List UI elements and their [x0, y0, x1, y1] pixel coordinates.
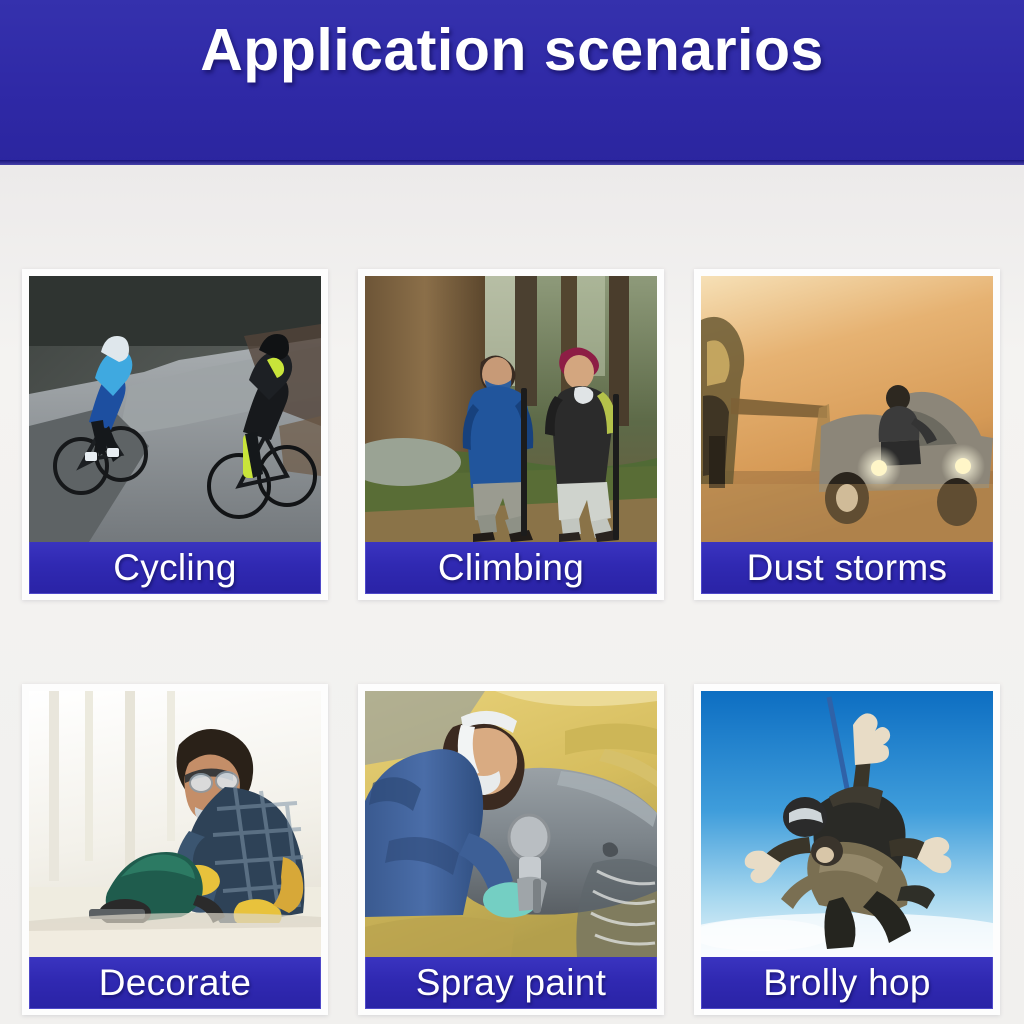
scenario-label-decorate: Decorate — [99, 964, 252, 1001]
scenarios-grid: Cycling — [22, 269, 1002, 1015]
page-header-banner: Application scenarios — [0, 0, 1024, 165]
scenario-label-climbing: Climbing — [438, 549, 584, 586]
dust-storms-photo — [701, 276, 993, 542]
scenario-card-cycling[interactable]: Cycling — [22, 269, 328, 600]
cycling-photo — [29, 276, 321, 542]
scenario-label-spray-paint: Spray paint — [416, 964, 606, 1001]
scenario-card-dust-storms[interactable]: Dust storms — [694, 269, 1000, 600]
spray-paint-photo — [365, 691, 657, 957]
card-label-bar: Cycling — [29, 542, 321, 594]
page-title: Application scenarios — [200, 16, 824, 84]
card-label-bar: Decorate — [29, 957, 321, 1009]
scenario-label-brolly-hop: Brolly hop — [763, 964, 931, 1001]
scenario-card-climbing[interactable]: Climbing — [358, 269, 664, 600]
scenario-label-cycling: Cycling — [113, 549, 236, 586]
card-label-bar: Brolly hop — [701, 957, 993, 1009]
climbing-photo — [365, 276, 657, 542]
scenarios-content-area: Cycling — [0, 165, 1024, 1024]
brolly-hop-photo — [701, 691, 993, 957]
scenario-card-decorate[interactable]: Decorate — [22, 684, 328, 1015]
scenarios-row-bottom: Decorate — [22, 684, 1002, 1015]
scenario-card-spray-paint[interactable]: Spray paint — [358, 684, 664, 1015]
scenarios-row-top: Cycling — [22, 269, 1002, 600]
decorate-photo — [29, 691, 321, 957]
scenario-label-dust-storms: Dust storms — [747, 549, 948, 586]
scenario-card-brolly-hop[interactable]: Brolly hop — [694, 684, 1000, 1015]
card-label-bar: Spray paint — [365, 957, 657, 1009]
card-label-bar: Climbing — [365, 542, 657, 594]
card-label-bar: Dust storms — [701, 542, 993, 594]
